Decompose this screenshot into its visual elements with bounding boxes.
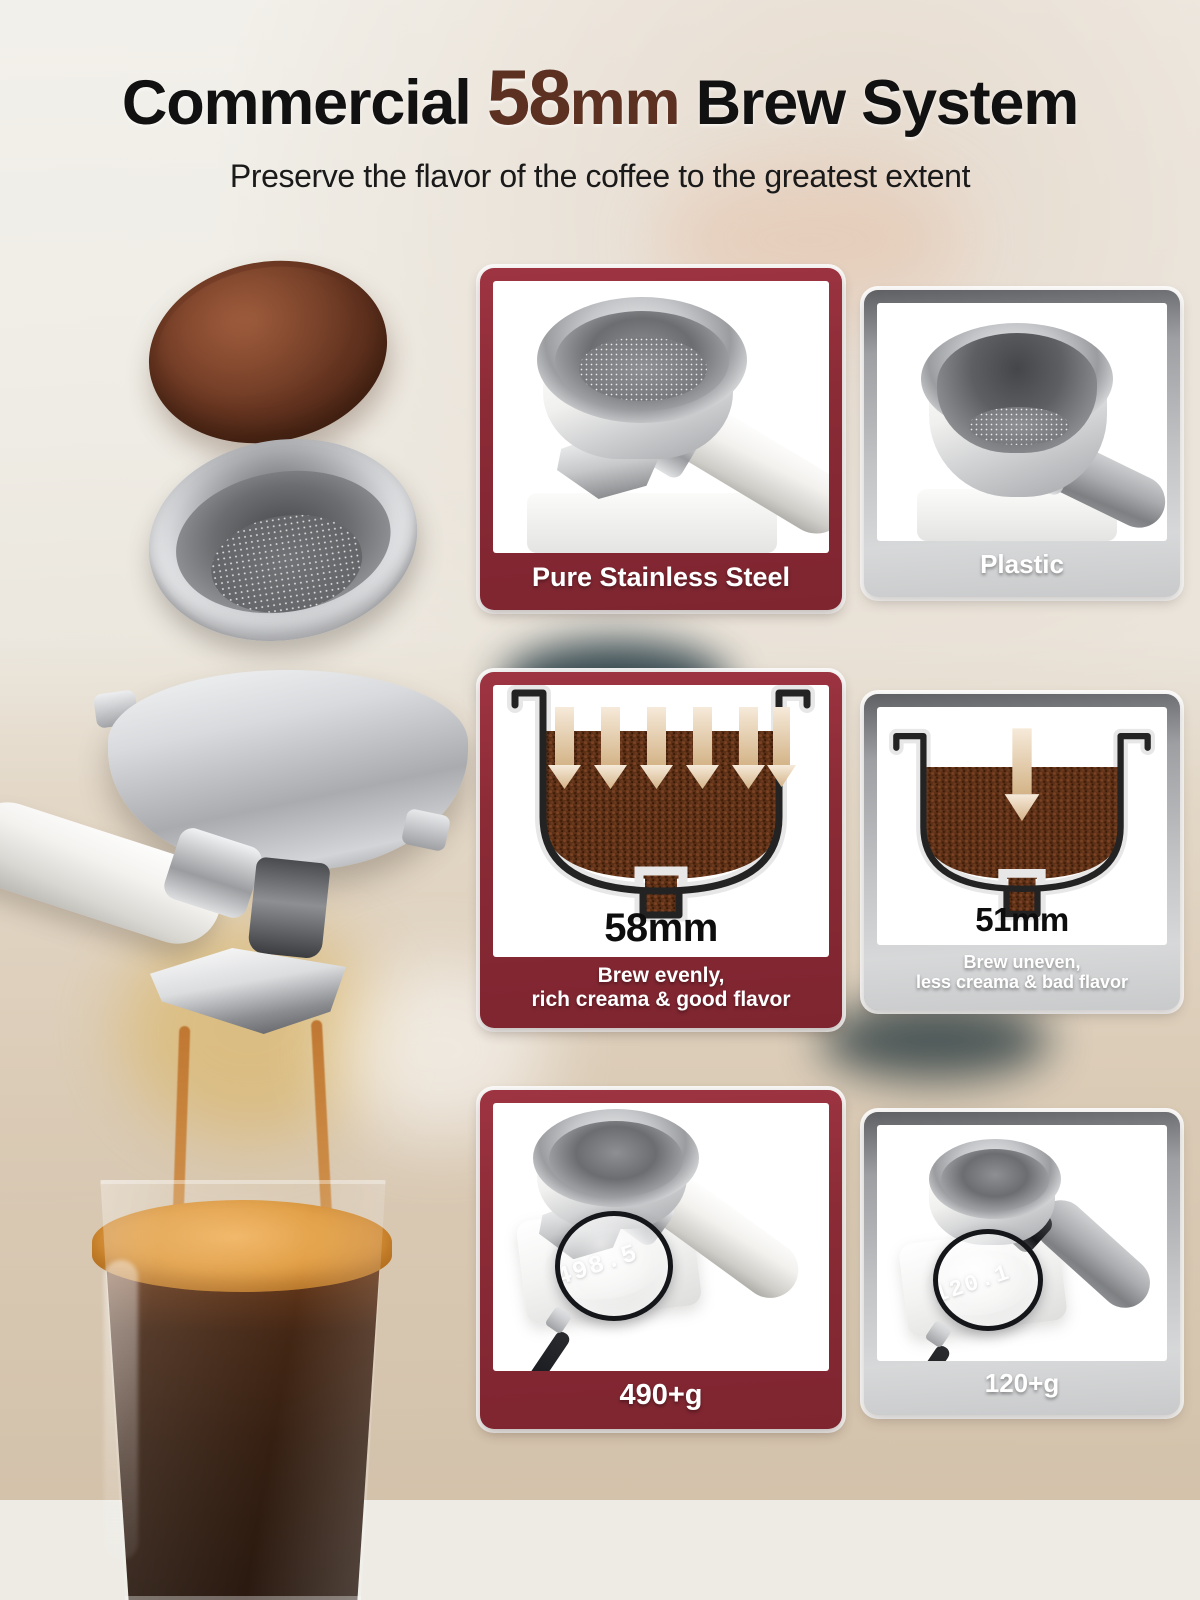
page-subtitle: Preserve the flavor of the coffee to the… (0, 158, 1200, 195)
plastic-portafilter-illustration (877, 303, 1167, 541)
card-label-stainless: Pure Stainless Steel (493, 553, 829, 597)
size-value-58mm: 58mm (493, 906, 829, 951)
card-label-120g: 120+g (877, 1361, 1167, 1402)
pf-filter-mesh (969, 407, 1069, 445)
label-line-2: rich creama & good flavor (499, 988, 823, 1012)
pf-inner-bowl (549, 1121, 683, 1197)
card-58mm[interactable]: 58mm Brew evenly, rich creama & good fla… (480, 672, 842, 1028)
size-value-51mm: 51mm (877, 901, 1167, 939)
card-51mm[interactable]: 51mm Brew uneven, less creama & bad flav… (864, 694, 1180, 1009)
card-weight-490g[interactable]: 498.5 490+g (480, 1090, 842, 1428)
diagram-58mm-cross-section: 58mm (493, 685, 829, 957)
header: Commercial 58mm Brew System Preserve the… (0, 58, 1200, 195)
magnifier-handle (517, 1330, 572, 1372)
card-pure-stainless-steel[interactable]: Pure Stainless Steel (480, 268, 842, 610)
cross-section-51mm: 51mm (877, 707, 1167, 945)
diagram-51mm-cross-section: 51mm (877, 707, 1167, 945)
cross-section-58mm: 58mm (493, 685, 829, 957)
card-plastic[interactable]: Plastic (864, 290, 1180, 597)
portafilter-spout-neck (247, 856, 331, 959)
pf-drip-base (527, 493, 777, 553)
glass-cup-highlight (104, 1260, 138, 1560)
stainless-filter-basket (134, 420, 432, 660)
coffee-puck (133, 241, 403, 463)
title-accent-group: 58mm (487, 68, 679, 138)
magnifier-lens (933, 1229, 1043, 1331)
title-accent-unit: mm (570, 68, 680, 138)
heavy-portafilter-illustration: 498.5 (493, 1103, 829, 1371)
light-portafilter-illustration: 120.1 (877, 1125, 1167, 1361)
pf-filter-mesh (579, 337, 707, 401)
comparison-row-weight: 498.5 490+g 120.1 (480, 1090, 1192, 1428)
photo-light-portafilter-scale: 120.1 (877, 1125, 1167, 1361)
label-line-2: less creama & bad flavor (883, 972, 1161, 992)
stainless-portafilter-illustration (493, 281, 829, 553)
title-accent-number: 58 (487, 53, 570, 141)
card-label-plastic: Plastic (877, 541, 1167, 584)
comparison-grid: Pure Stainless Steel Plastic (480, 268, 1192, 1429)
portafilter-ear-right (401, 808, 452, 852)
comparison-row-size: 58mm Brew evenly, rich creama & good fla… (480, 672, 1192, 1028)
label-line-1: Brew uneven, (883, 952, 1161, 972)
card-label-51mm: Brew uneven, less creama & bad flavor (877, 945, 1167, 996)
comparison-row-material: Pure Stainless Steel Plastic (480, 268, 1192, 610)
page-title: Commercial 58mm Brew System (0, 58, 1200, 136)
card-weight-120g[interactable]: 120.1 120+g (864, 1112, 1180, 1415)
magnifier-lens (555, 1211, 673, 1321)
hero-product-photo (0, 200, 490, 1500)
photo-stainless-portafilter (493, 281, 829, 553)
pf-inner-bowl (941, 1149, 1049, 1211)
magnifier-handle (897, 1344, 952, 1362)
photo-plastic-portafilter (877, 303, 1167, 541)
label-line-1: Brew evenly, (499, 964, 823, 988)
card-label-490g: 490+g (493, 1371, 829, 1415)
photo-heavy-portafilter-scale: 498.5 (493, 1103, 829, 1371)
title-part-2: Brew System (679, 68, 1078, 138)
card-label-58mm: Brew evenly, rich creama & good flavor (493, 957, 829, 1015)
title-part-1: Commercial (122, 68, 487, 138)
